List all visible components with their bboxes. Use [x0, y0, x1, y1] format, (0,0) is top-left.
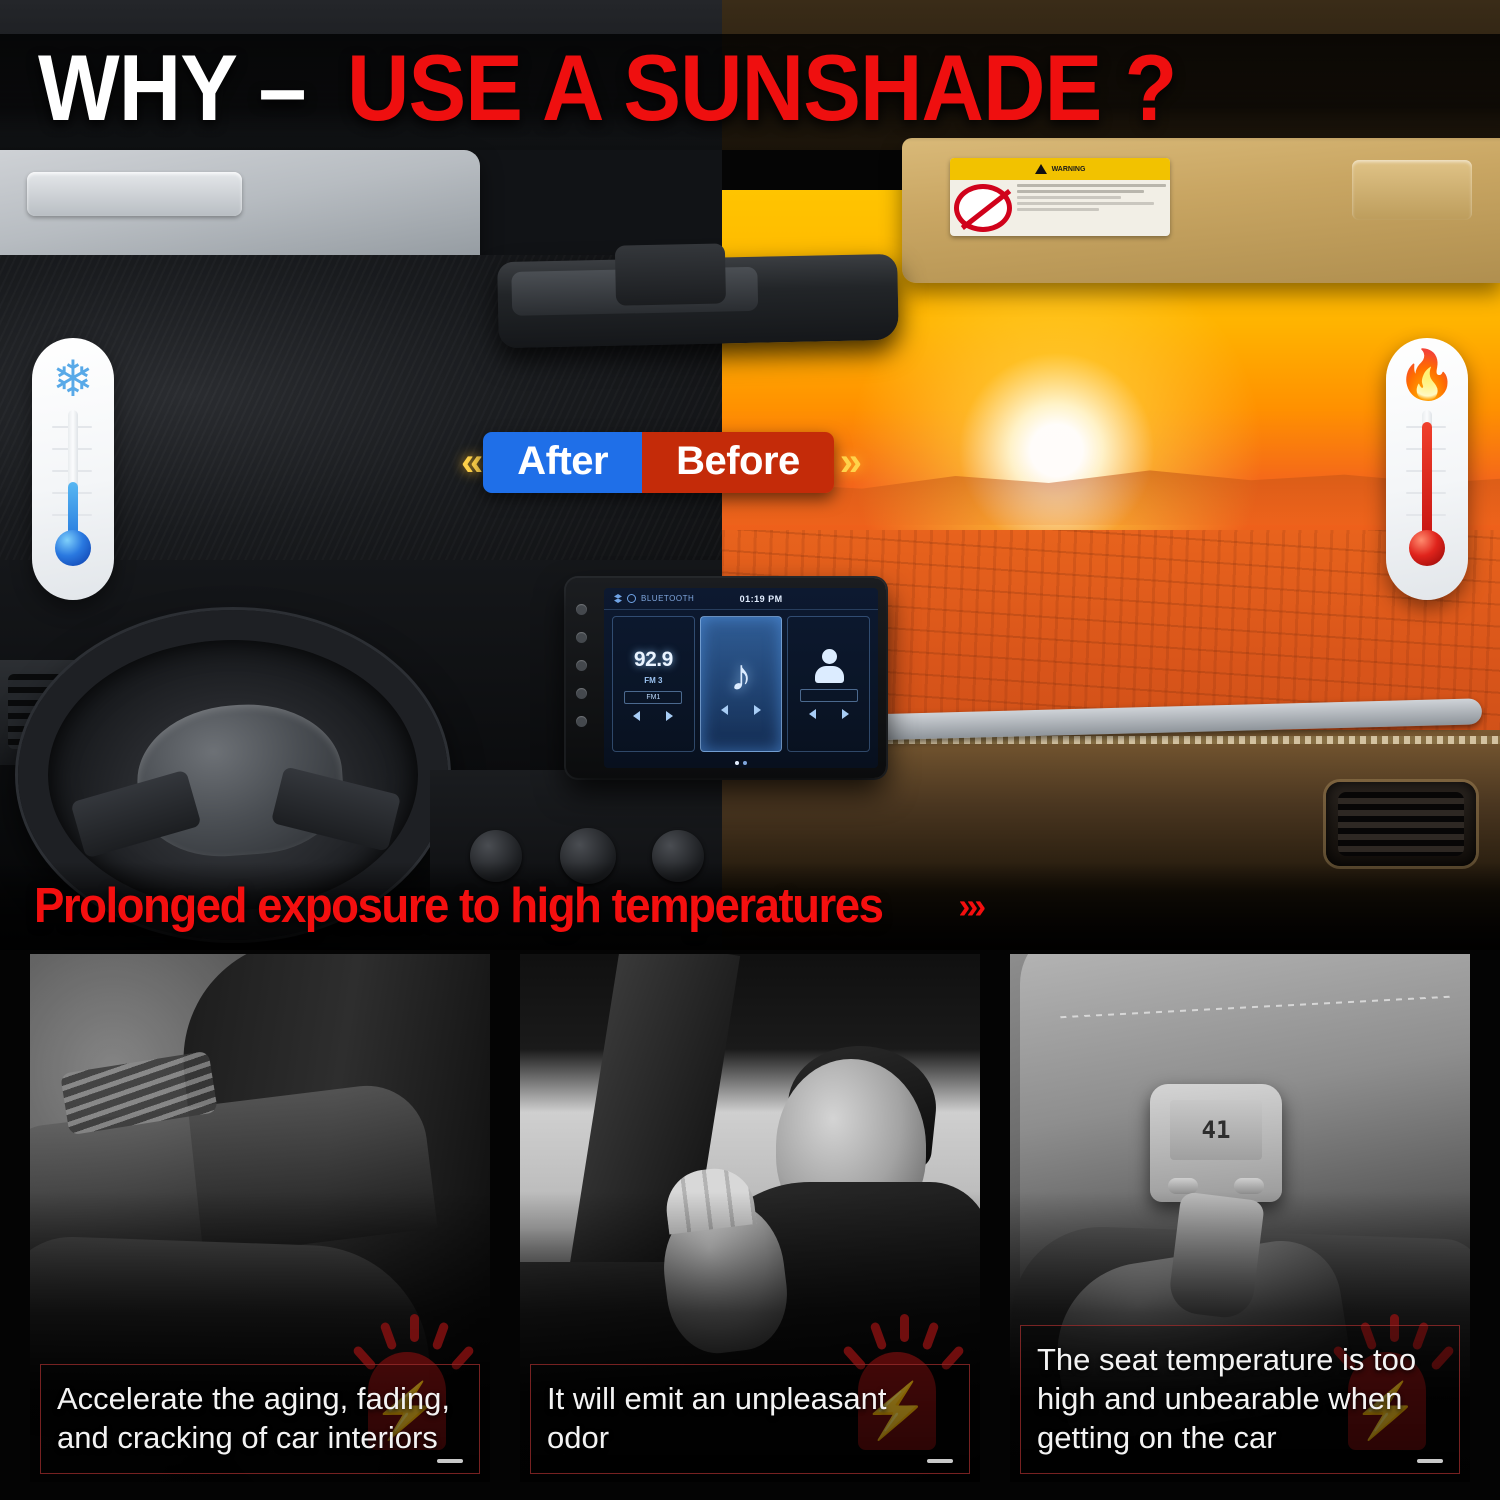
- panel-caption-text: The seat temperature is too high and unb…: [1037, 1340, 1443, 1457]
- home-button-icon[interactable]: [576, 632, 587, 643]
- radio-frequency: 92.9: [634, 648, 673, 672]
- airbag-warning-label: WARNING: [950, 158, 1170, 236]
- panel-hot-seat: 41 ⚡ The seat temperature is too high an…: [1010, 954, 1470, 1482]
- tile-media[interactable]: ♪: [700, 616, 783, 752]
- phone-nav-controls[interactable]: [809, 709, 849, 719]
- head-unit-status-bar: BLUETOOTH 01:19 PM: [604, 588, 878, 610]
- page-title: WHY – USE A SUNSHADE ?: [0, 34, 1500, 142]
- power-button-icon[interactable]: [576, 604, 587, 615]
- status-source-label: BLUETOOTH: [641, 594, 694, 603]
- panel-caption-box: The seat temperature is too high and unb…: [1020, 1325, 1460, 1474]
- next-arrow-icon[interactable]: [666, 711, 673, 721]
- warning-label-body: [950, 180, 1170, 236]
- radio-seek-controls[interactable]: [633, 711, 673, 721]
- panel-caption-box: Accelerate the aging, fading, and cracki…: [40, 1364, 480, 1474]
- title-red-part: USE A SUNSHADE ?: [347, 41, 1176, 135]
- no-child-seat-icon: [954, 184, 1012, 232]
- thermometer-bulb-hot: [1409, 530, 1445, 566]
- after-before-badge: « After Before »: [455, 432, 862, 493]
- media-prev-icon[interactable]: [721, 705, 728, 715]
- prev-arrow-icon[interactable]: [633, 711, 640, 721]
- panel-caption-text: Accelerate the aging, fading, and cracki…: [57, 1379, 463, 1457]
- media-transport-controls[interactable]: [721, 705, 761, 715]
- tile-radio[interactable]: 92.9 FM 3 FM1: [612, 616, 695, 752]
- panel-caption-box: It will emit an unpleasant odor: [530, 1364, 970, 1474]
- media-next-icon[interactable]: [754, 705, 761, 715]
- benefit-panels: ⚡ Accelerate the aging, fading, and crac…: [0, 950, 1500, 1500]
- phone-status-pill[interactable]: [800, 689, 858, 702]
- hot-thermometer: 🔥: [1386, 338, 1468, 600]
- person-icon: [814, 649, 844, 683]
- infographic-page: WARNING: [0, 0, 1500, 1500]
- head-unit-side-buttons[interactable]: [576, 604, 587, 727]
- section-heading-arrows-icon: ›››: [958, 885, 982, 927]
- warning-label-text: WARNING: [1052, 166, 1086, 173]
- menu-button-icon[interactable]: [576, 688, 587, 699]
- warning-label-header: WARNING: [950, 158, 1170, 180]
- caption-underscore-icon: [437, 1459, 463, 1463]
- title-white-part: WHY –: [38, 41, 306, 135]
- before-label[interactable]: Before: [642, 432, 834, 493]
- tile-phone[interactable]: [787, 616, 870, 752]
- flame-icon: 🔥: [1397, 352, 1457, 400]
- snowflake-icon: ❄: [52, 354, 94, 404]
- phone-prev-icon[interactable]: [809, 709, 816, 719]
- music-note-icon: ♪: [730, 654, 752, 698]
- wifi-icon: [627, 594, 636, 603]
- warning-triangle-icon: [1035, 164, 1047, 174]
- infotainment-head-unit[interactable]: BLUETOOTH 01:19 PM 92.9 FM 3 FM1: [566, 578, 886, 778]
- mirror-camera-pod: [615, 243, 726, 305]
- radio-preset[interactable]: FM1: [624, 691, 682, 704]
- page-indicator-dots[interactable]: [735, 761, 747, 765]
- head-unit-tiles: 92.9 FM 3 FM1 ♪: [604, 610, 878, 758]
- volume-button-icon[interactable]: [576, 716, 587, 727]
- status-left-group: BLUETOOTH: [614, 594, 694, 603]
- air-vent-right: [1326, 782, 1476, 866]
- thermometer-bulb-cold: [55, 530, 91, 566]
- caption-underscore-icon: [927, 1459, 953, 1463]
- warning-label-lines: [1017, 184, 1166, 232]
- visor-pocket: [1352, 160, 1472, 220]
- panel-caption-text: It will emit an unpleasant odor: [547, 1379, 953, 1457]
- after-label[interactable]: After: [483, 432, 642, 493]
- head-unit-screen[interactable]: BLUETOOTH 01:19 PM 92.9 FM 3 FM1: [604, 588, 878, 768]
- phone-next-icon[interactable]: [842, 709, 849, 719]
- rearview-mirror: [497, 254, 899, 348]
- left-chevron-icon: «: [455, 440, 483, 485]
- sun-visor-right: WARNING: [902, 138, 1500, 283]
- panel-unpleasant-odor: ⚡ It will emit an unpleasant odor: [520, 954, 980, 1482]
- media-button-icon[interactable]: [576, 660, 587, 671]
- cold-thermometer: ❄: [32, 338, 114, 600]
- bluetooth-icon: [614, 594, 622, 603]
- after-before-toggle[interactable]: After Before: [483, 432, 834, 493]
- right-chevron-icon: »: [834, 440, 862, 485]
- section-heading-text: Prolonged exposure to high temperatures: [34, 878, 882, 934]
- radio-band: FM 3: [644, 676, 662, 685]
- caption-underscore-icon: [1417, 1459, 1443, 1463]
- panel-aging-interiors: ⚡ Accelerate the aging, fading, and crac…: [30, 954, 490, 1482]
- section-heading: Prolonged exposure to high temperatures …: [0, 862, 1500, 950]
- hero-comparison-image: WARNING: [0, 0, 1500, 950]
- status-clock: 01:19 PM: [740, 594, 783, 604]
